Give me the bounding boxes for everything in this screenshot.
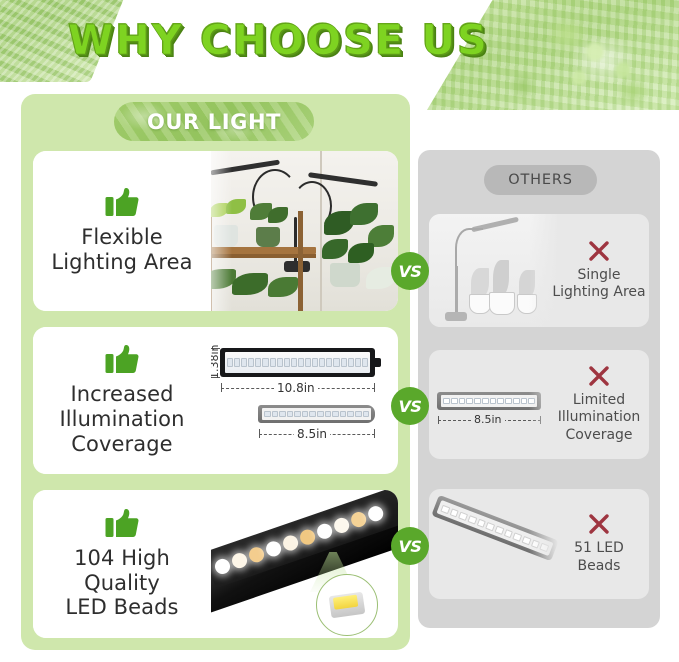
thumbs-up-icon <box>105 187 139 218</box>
other-card-1-label-block: Single Lighting Area <box>549 214 649 327</box>
other-card-2-text: Limited Illumination Coverage <box>558 392 641 445</box>
our-card-1-visual-dual-head-lamp-photo <box>198 151 398 311</box>
other-card-3-label-block: 51 LED Beads <box>549 489 649 599</box>
our-light-badge-label: OUR LIGHT <box>147 110 281 134</box>
vs-badge-label: VS <box>399 537 422 556</box>
vs-badge-row-2: VS <box>391 387 429 425</box>
our-card-lighting-area: Flexible Lighting Area <box>33 151 398 311</box>
other-card-lighting-area: Single Lighting Area <box>429 214 649 327</box>
our-card-1-label-block: Flexible Lighting Area <box>33 151 211 311</box>
thumbs-up-icon <box>105 508 139 539</box>
other-card-3-visual-angled-gray-bar <box>429 489 559 599</box>
our-light-badge: OUR LIGHT <box>114 102 314 141</box>
our-card-1-text: Flexible Lighting Area <box>51 225 192 275</box>
vs-badge-row-3: VS <box>391 527 429 565</box>
led-chip-inset <box>316 574 378 636</box>
other-card-1-text: Single Lighting Area <box>552 267 645 302</box>
vs-badge-label: VS <box>399 397 422 416</box>
our-card-3-visual-led-closeup <box>198 490 398 638</box>
thumbs-up-icon <box>105 344 139 375</box>
our-card-3-text: 104 High Quality LED Beads <box>65 546 178 620</box>
dimension-other-length-label: 8.5in <box>294 427 330 441</box>
other-card-2-visual-short-bar-diagram: 8.5in <box>429 350 559 459</box>
red-cross-icon <box>588 240 610 262</box>
dimension-other-bar-length-label: 8.5in <box>471 413 505 426</box>
other-card-led-beads: 51 LED Beads <box>429 489 649 599</box>
our-card-illumination-coverage: Increased Illumination Coverage 1.38in 1… <box>33 327 398 474</box>
our-card-2-visual-dimension-diagram: 1.38in 10.8in <box>198 327 398 474</box>
other-card-1-visual-single-lamp-photo <box>429 214 559 327</box>
vs-badge-row-1: VS <box>391 252 429 290</box>
red-cross-icon <box>588 365 610 387</box>
our-card-2-label-block: Increased Illumination Coverage <box>33 327 211 474</box>
page-title: WHY CHOOSE US <box>68 16 489 64</box>
dimension-our-length-label: 10.8in <box>274 381 318 395</box>
others-badge-label: OTHERS <box>508 172 572 188</box>
other-card-illumination-coverage: 8.5in Limited Illumination Coverage <box>429 350 649 459</box>
others-badge: OTHERS <box>484 165 597 195</box>
red-cross-icon <box>588 513 610 535</box>
our-card-2-text: Increased Illumination Coverage <box>59 382 184 456</box>
our-card-led-beads: 104 High Quality LED Beads <box>33 490 398 638</box>
our-card-3-label-block: 104 High Quality LED Beads <box>33 490 211 638</box>
other-card-3-text: 51 LED Beads <box>574 540 624 575</box>
other-card-2-label-block: Limited Illumination Coverage <box>549 350 649 459</box>
vs-badge-label: VS <box>399 262 422 281</box>
